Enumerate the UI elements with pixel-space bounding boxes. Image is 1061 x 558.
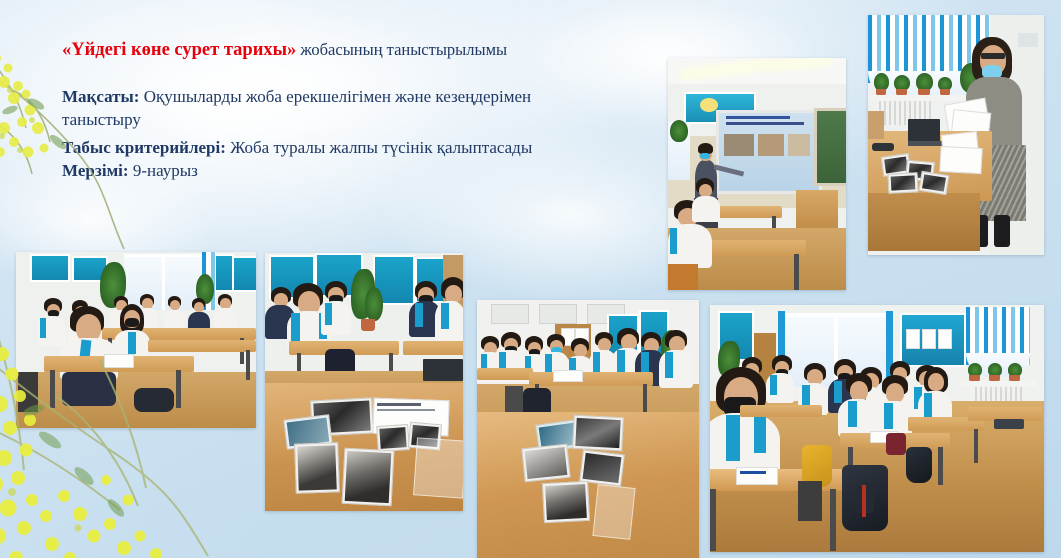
success-criteria-value: Жоба туралы жалпы түсінік қалыптасады	[226, 138, 532, 157]
title-highlight: «Үйдегі көне сурет тарихы»	[62, 40, 296, 60]
slide-text-block: «Үйдегі көне сурет тарихы» жобасының тан…	[62, 38, 662, 183]
photo-students-viewing-photographs	[477, 300, 699, 558]
success-criteria-label: Табыс критерийлері:	[62, 138, 226, 157]
objective-value: Оқушыларды жоба ерекшелігімен және кезең…	[139, 87, 531, 106]
date-value: 9-наурыз	[129, 161, 198, 180]
title-tail: жобасының таныстырылымы	[296, 40, 507, 59]
presentation-slide: «Үйдегі көне сурет тарихы» жобасының тан…	[0, 0, 1061, 558]
objective-label: Мақсаты:	[62, 87, 139, 106]
photo-classroom-students-front-row	[16, 252, 256, 428]
date-label: Мерзімі:	[62, 161, 129, 180]
objective-value-continued: таныстыру	[62, 110, 141, 129]
page-title: «Үйдегі көне сурет тарихы» жобасының тан…	[62, 38, 662, 63]
objective-line: Мақсаты: Оқушыларды жоба ерекшелігімен ж…	[62, 85, 662, 108]
photo-classroom-students-with-old-photographs	[265, 253, 463, 511]
photo-classroom-students-wide-view	[710, 305, 1044, 552]
objective-line-continued: таныстыру	[62, 108, 662, 131]
success-criteria-line: Табыс критерийлері: Жоба туралы жалпы тү…	[62, 136, 662, 159]
photo-teacher-presentation-projector	[668, 58, 846, 290]
date-line: Мерзімі: 9-наурыз	[62, 159, 662, 182]
photo-teacher-with-documents-at-table	[868, 15, 1044, 255]
